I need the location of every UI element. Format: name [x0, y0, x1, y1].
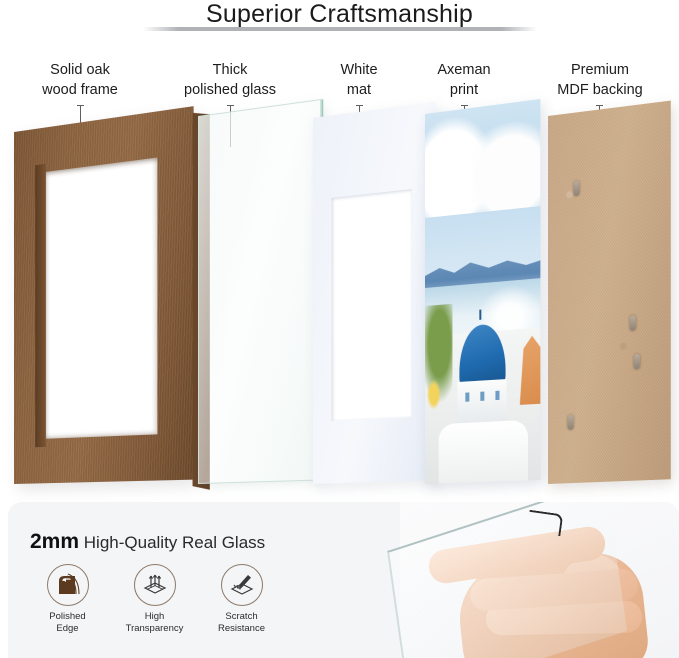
scratch-resistance-icon: [221, 564, 263, 606]
header: Superior Craftsmanship: [0, 0, 679, 40]
hanging-tab: [634, 354, 640, 370]
hanging-tab: [630, 315, 636, 331]
callout-label-wood-frame: Solid oak wood frame: [18, 60, 142, 100]
glass-feature-list: Polished Edge: [24, 564, 286, 635]
callout-line-1: Solid oak: [18, 60, 142, 80]
page-title: Superior Craftsmanship: [0, 0, 679, 28]
callout-label-backing: Premium MDF backing: [535, 60, 665, 100]
callout-line-2: mat: [318, 80, 400, 100]
layer-polished-glass: [198, 99, 323, 484]
feature-line-1: Scratch: [198, 611, 285, 623]
glass-headline-text: High-Quality Real Glass: [84, 533, 265, 552]
callout-line-1: White: [318, 60, 400, 80]
high-transparency-icon: [134, 564, 176, 606]
callout-line-2: MDF backing: [535, 80, 665, 100]
feature-line-2: Transparency: [111, 623, 198, 635]
glass-detail-panel: 2mm High-Quality Real Glass Polished Edg…: [8, 502, 679, 658]
glass-headline: 2mm High-Quality Real Glass: [30, 530, 265, 554]
callout-line-2: polished glass: [163, 80, 297, 100]
feature-high-transparency: High Transparency: [111, 564, 198, 635]
layer-oak-wood-frame: [14, 106, 194, 484]
hanging-tab: [574, 181, 580, 197]
print-window: [466, 393, 470, 402]
product-infographic: Superior Craftsmanship Solid oak wood fr…: [0, 0, 679, 658]
layer-mdf-backing: [548, 101, 671, 484]
feature-line-1: High: [111, 611, 198, 623]
exploded-view-diagram: [0, 110, 679, 500]
title-underline: [143, 27, 537, 31]
polished-edge-icon: [47, 564, 89, 606]
callout-line-2: wood frame: [18, 80, 142, 100]
callout-label-print: Axeman print: [418, 60, 510, 100]
callout-line-1: Axeman: [418, 60, 510, 80]
feature-scratch-resistance: Scratch Resistance: [198, 564, 285, 635]
feature-polished-edge: Polished Edge: [24, 564, 111, 635]
hanging-tab: [568, 415, 574, 430]
glass-thickness: 2mm: [30, 530, 79, 553]
frame-opening: [43, 158, 157, 439]
feature-label: Scratch Resistance: [198, 611, 285, 635]
hand-holding-glass-photo: [400, 502, 679, 658]
print-cloud: [473, 116, 541, 213]
layer-white-mat: [313, 102, 435, 484]
callout-line-1: Thick: [163, 60, 297, 80]
print-flowers: [427, 379, 441, 409]
print-church-base: [458, 379, 506, 427]
feature-line-2: Edge: [24, 623, 111, 635]
callout-line-2: print: [418, 80, 510, 100]
callout-line-1: Premium: [535, 60, 665, 80]
mat-window-cutout: [332, 189, 412, 421]
frame-inner-lip: [35, 164, 46, 447]
print-window: [481, 392, 485, 401]
layer-photo-print: [425, 99, 540, 484]
feature-label: High Transparency: [111, 611, 198, 635]
feature-line-2: Resistance: [198, 623, 285, 635]
feature-line-1: Polished: [24, 611, 111, 623]
glass-corner-outline: [527, 510, 564, 537]
print-window: [496, 391, 500, 400]
callout-label-mat: White mat: [318, 60, 400, 100]
callout-label-glass: Thick polished glass: [163, 60, 297, 100]
feature-label: Polished Edge: [24, 611, 111, 635]
print-cross: [480, 309, 482, 319]
print-terrace-wall: [438, 420, 528, 484]
